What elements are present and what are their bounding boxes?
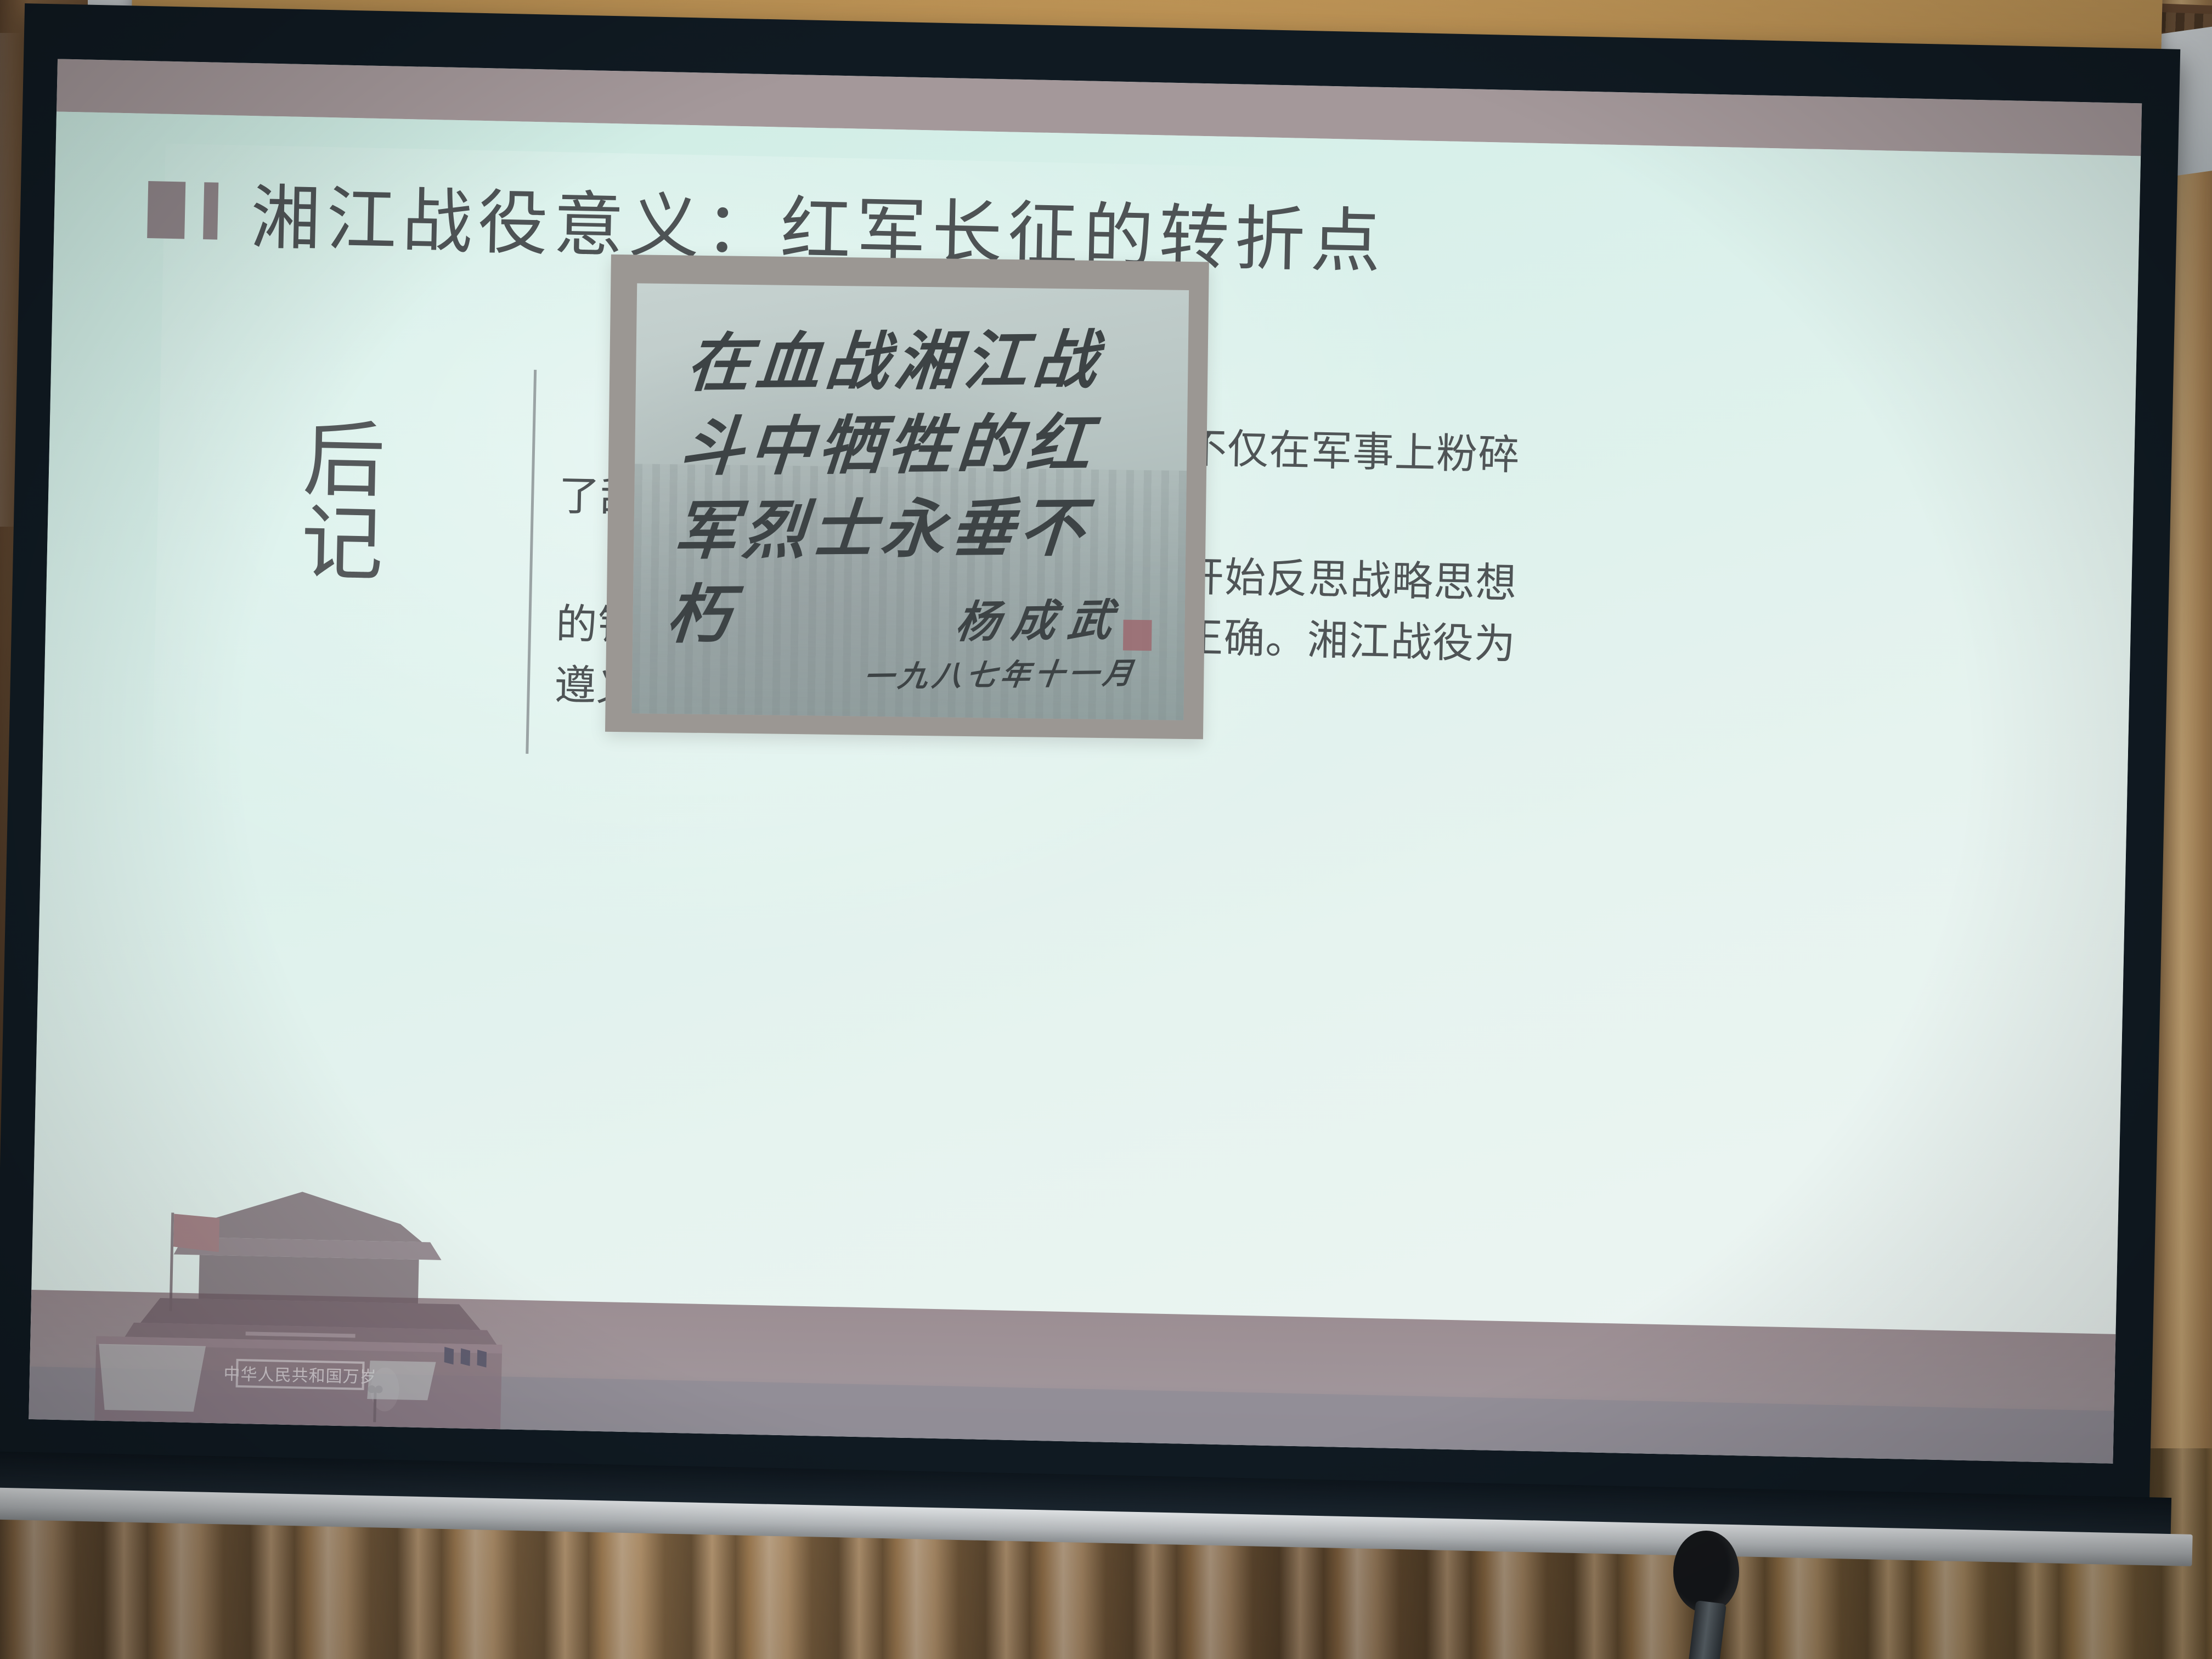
- plaque-surface: 在血战湘江战斗中牺牲的红军烈士永垂不朽 杨成武 一九八七年十一月: [631, 283, 1189, 720]
- calligraphy-signature: 杨成武: [952, 585, 1129, 651]
- conference-room: 湘江战役意义：红军长征的转折点 后记 湘江战役是长征的转折点，它不仅在军事上粉碎…: [0, 0, 2212, 1659]
- calligraphy-plaque: 在血战湘江战斗中牺牲的红军烈士永垂不朽 杨成武 一九八七年十一月: [605, 255, 1209, 740]
- microphone: [1668, 1531, 1750, 1659]
- section-label: 后记: [288, 415, 383, 584]
- calligraphy-date: 一九八七年十一月: [862, 648, 1141, 696]
- projection-screen: 湘江战役意义：红军长征的转折点 后记 湘江战役是长征的转折点，它不仅在军事上粉碎…: [0, 3, 2197, 1531]
- microphone-head-icon: [1673, 1531, 1739, 1613]
- bar-marker-icon: [203, 182, 218, 240]
- tiananmen-banner-text: 中华人民共和国万岁: [223, 1364, 377, 1387]
- seal-stamp-icon: [1123, 620, 1152, 651]
- square-marker-icon: [147, 181, 185, 239]
- tiananmen-gate-illustration: 中华人民共和国万岁: [39, 1134, 539, 1430]
- presentation-slide: 湘江战役意义：红军长征的转折点 后记 湘江战役是长征的转折点，它不仅在军事上粉碎…: [29, 59, 2142, 1463]
